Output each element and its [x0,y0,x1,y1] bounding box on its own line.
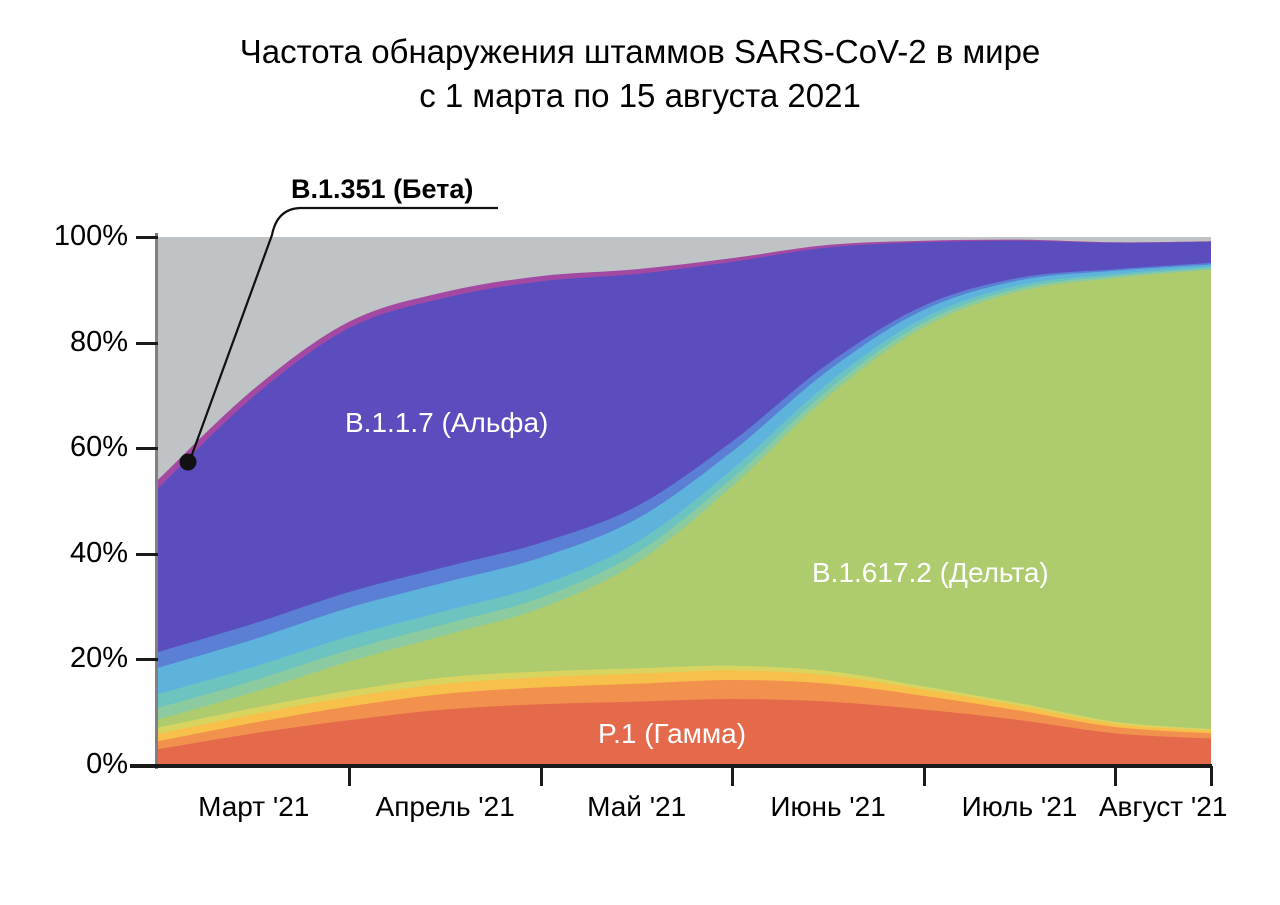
x-tick-label-3: Июнь '21 [770,790,885,824]
x-axis-spine [130,764,1212,768]
y-tick-mark [136,764,158,767]
y-tick-label: 20% [18,644,128,673]
series-label-delta: B.1.617.2 (Дельта) [812,557,1049,589]
y-tick-mark [136,342,158,345]
beta-callout-label: B.1.351 (Бета) [291,173,473,205]
x-tick-mark [348,766,351,786]
series-label-gamma: P.1 (Гамма) [598,718,746,750]
series-label-alpha: B.1.1.7 (Альфа) [345,407,548,439]
y-tick-mark [136,658,158,661]
x-tick-mark [1114,766,1117,786]
y-tick-label: 80% [18,328,128,357]
y-tick-label: 0% [18,750,128,779]
y-tick-label: 60% [18,433,128,462]
x-tick-mark [731,766,734,786]
x-tick-mark [540,766,543,786]
y-tick-mark [136,553,158,556]
chart-title: Частота обнаружения штаммов SARS-CoV-2 в… [0,30,1280,118]
x-tick-label-4: Июль '21 [962,790,1078,824]
y-tick-mark [136,236,158,239]
x-tick-mark [923,766,926,786]
y-axis: 0%20%40%60%80%100% [0,0,158,905]
x-tick-label-5: Август '21 [1099,790,1228,824]
y-tick-mark [136,447,158,450]
x-tick-label-0: Март '21 [198,790,309,824]
plot-area [158,237,1211,765]
x-tick-label-1: Апрель '21 [376,790,515,824]
chart-root: Частота обнаружения штаммов SARS-CoV-2 в… [0,0,1280,905]
stacked-area-svg [158,237,1211,765]
x-tick-label-2: Май '21 [587,790,686,824]
x-tick-mark [1210,766,1213,786]
y-tick-label: 100% [18,222,128,251]
y-tick-label: 40% [18,539,128,568]
